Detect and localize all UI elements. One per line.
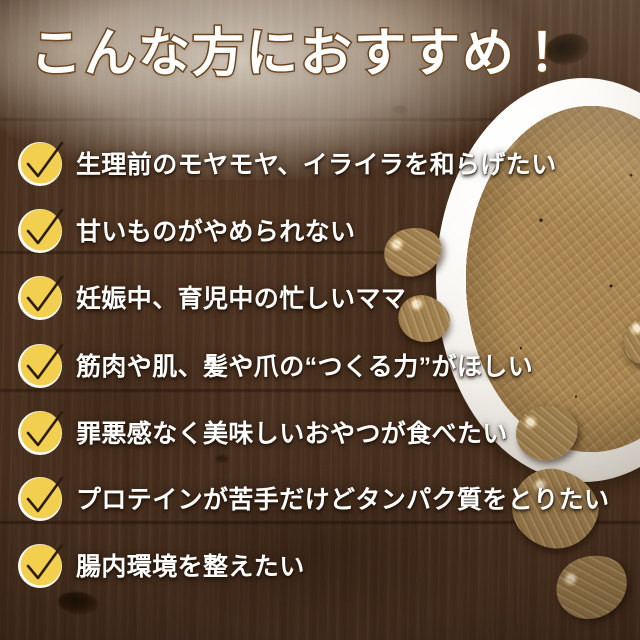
check-circle-icon bbox=[16, 407, 66, 457]
checklist-item-3: 妊娠中、育児中の忙しいママ bbox=[16, 272, 406, 322]
check-circle-icon bbox=[16, 138, 66, 188]
promo-banner: こんな方におすすめ！ 生理前のモヤモヤ、イライラを和らげたい甘いものがやめられな… bbox=[0, 0, 640, 640]
check-circle-icon bbox=[16, 540, 66, 590]
checklist-item-4: 筋肉や肌、髪や爪の“つくる力”がほしい bbox=[16, 340, 533, 390]
check-circle-icon bbox=[16, 473, 66, 523]
checklist-item-label: 筋肉や肌、髪や爪の“つくる力”がほしい bbox=[76, 347, 533, 383]
checklist-item-label: プロテインが苦手だけどタンパク質をとりたい bbox=[76, 480, 609, 516]
check-circle-icon bbox=[16, 340, 66, 390]
checklist-item-label: 罪悪感なく美味しいおやつが食べたい bbox=[76, 414, 508, 450]
checklist-item-5: 罪悪感なく美味しいおやつが食べたい bbox=[16, 407, 508, 457]
checklist-item-label: 甘いものがやめられない bbox=[76, 212, 355, 248]
checklist-item-label: 妊娠中、育児中の忙しいママ bbox=[76, 279, 406, 315]
checklist-item-6: プロテインが苦手だけどタンパク質をとりたい bbox=[16, 473, 609, 523]
benefit-checklist: 生理前のモヤモヤ、イライラを和らげたい甘いものがやめられない妊娠中、育児中の忙し… bbox=[0, 0, 640, 640]
checklist-item-label: 生理前のモヤモヤ、イライラを和らげたい bbox=[76, 145, 557, 181]
checklist-item-label: 腸内環境を整えたい bbox=[76, 547, 305, 583]
checklist-item-7: 腸内環境を整えたい bbox=[16, 540, 305, 590]
checklist-item-2: 甘いものがやめられない bbox=[16, 205, 355, 255]
check-circle-icon bbox=[16, 272, 66, 322]
checklist-item-1: 生理前のモヤモヤ、イライラを和らげたい bbox=[16, 138, 557, 188]
check-circle-icon bbox=[16, 205, 66, 255]
